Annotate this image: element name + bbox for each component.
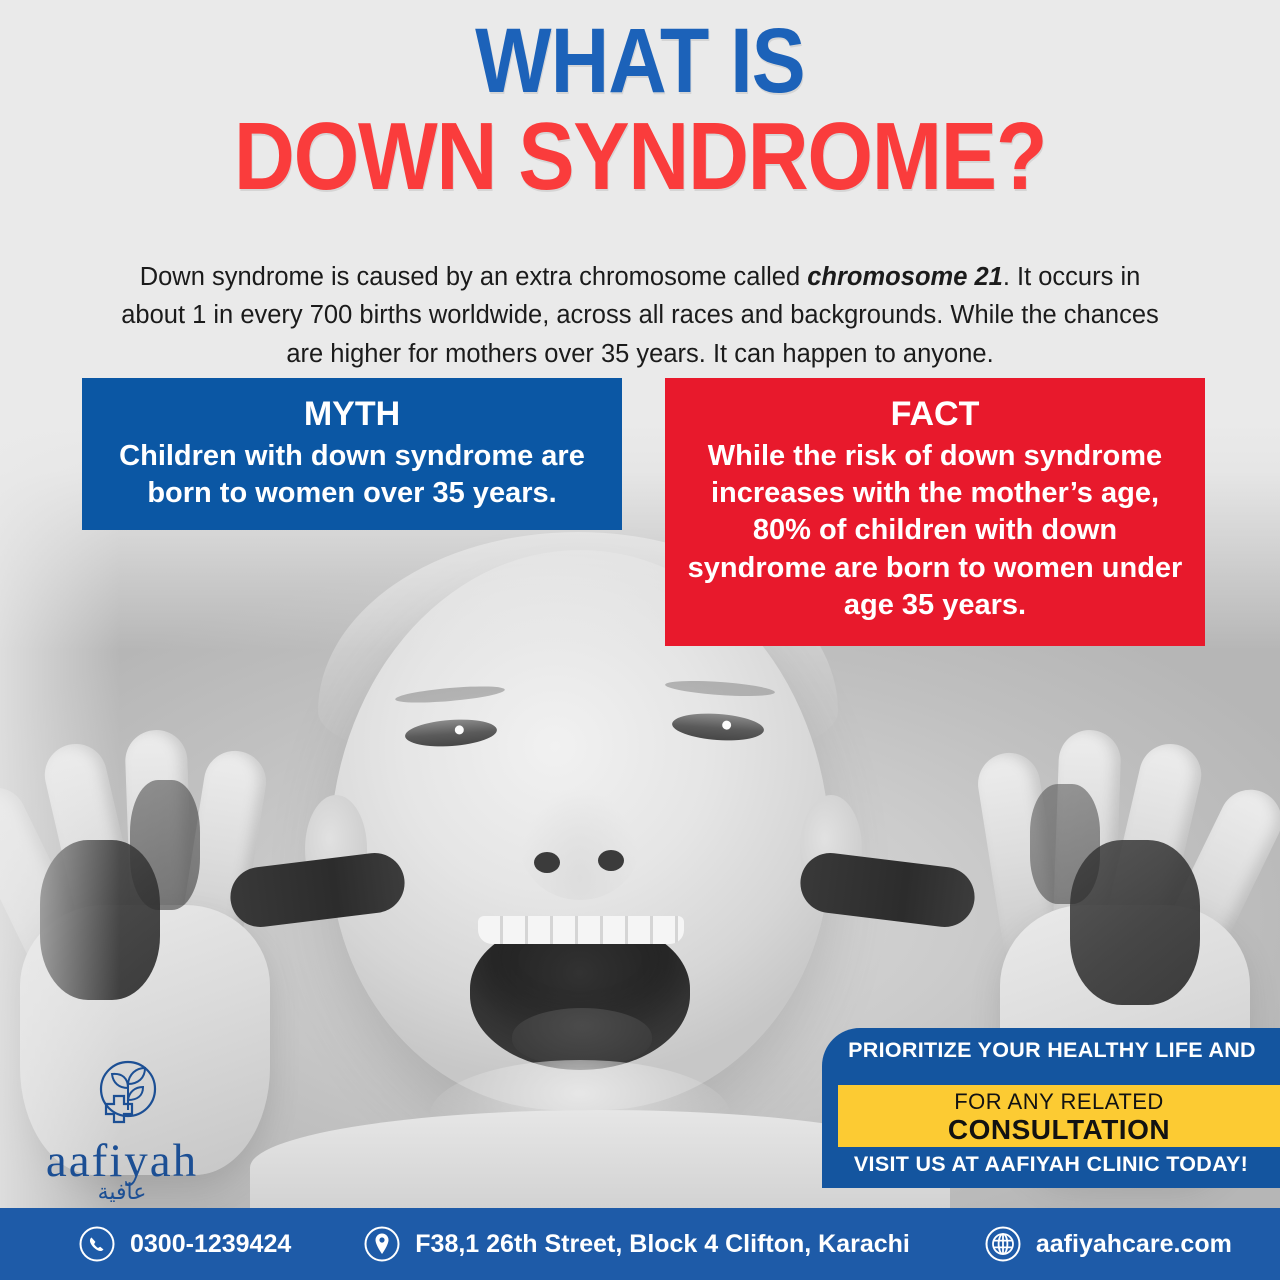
cta-band-line-2: CONSULTATION xyxy=(838,1114,1280,1146)
photo-nostril-right xyxy=(598,850,624,871)
myth-card: MYTH Children with down syndrome are bor… xyxy=(82,378,622,530)
fact-card-body: While the risk of down syndrome increase… xyxy=(681,438,1189,624)
fact-card-title: FACT xyxy=(681,392,1189,436)
footer-address-text: F38,1 26th Street, Block 4 Clifton, Kara… xyxy=(415,1230,910,1259)
infographic-poster: WHAT IS DOWN SYNDROME? Down syndrome is … xyxy=(0,0,1280,1280)
cta-highlight-band: FOR ANY RELATED CONSULTATION xyxy=(838,1085,1280,1147)
intro-paragraph: Down syndrome is caused by an extra chro… xyxy=(110,258,1170,374)
logo-wordmark: aafiyah xyxy=(8,1138,236,1185)
globe-icon xyxy=(984,1225,1022,1263)
leaf-cross-logo-icon xyxy=(79,1058,165,1136)
logo-arabic-text: عافية xyxy=(8,1179,236,1205)
photo-nose xyxy=(520,790,640,900)
contact-footer: 0300-1239424 F38,1 26th Street, Block 4 … xyxy=(0,1208,1280,1280)
photo-tongue xyxy=(512,1008,652,1066)
consultation-cta-block[interactable]: PRIORITIZE YOUR HEALTHY LIFE AND FOR ANY… xyxy=(822,1028,1280,1188)
title-line-2: DOWN SYNDROME? xyxy=(77,111,1203,202)
fact-card: FACT While the risk of down syndrome inc… xyxy=(665,378,1205,646)
title-line-1: WHAT IS xyxy=(77,18,1203,105)
phone-icon xyxy=(78,1225,116,1263)
page-title: WHAT IS DOWN SYNDROME? xyxy=(0,18,1280,203)
footer-phone[interactable]: 0300-1239424 xyxy=(78,1225,291,1263)
footer-address[interactable]: F38,1 26th Street, Block 4 Clifton, Kara… xyxy=(363,1225,910,1263)
myth-card-body: Children with down syndrome are born to … xyxy=(98,438,606,512)
footer-website[interactable]: aafiyahcare.com xyxy=(984,1225,1232,1263)
intro-part-1: Down syndrome is caused by an extra chro… xyxy=(140,263,808,291)
cta-top-line: PRIORITIZE YOUR HEALTHY LIFE AND xyxy=(822,1028,1280,1069)
photo-nostril-left xyxy=(534,852,560,873)
cta-bottom-line: VISIT US AT AAFIYAH CLINIC TODAY! xyxy=(822,1152,1280,1177)
location-pin-icon xyxy=(363,1225,401,1263)
cta-band-line-1: FOR ANY RELATED xyxy=(838,1089,1280,1114)
footer-website-text: aafiyahcare.com xyxy=(1036,1230,1232,1259)
brand-logo: aafiyah عافية xyxy=(8,1058,236,1211)
intro-emphasis: chromosome 21 xyxy=(807,263,1003,291)
footer-phone-text: 0300-1239424 xyxy=(130,1230,291,1259)
photo-teeth xyxy=(478,916,684,944)
myth-card-title: MYTH xyxy=(98,392,606,436)
